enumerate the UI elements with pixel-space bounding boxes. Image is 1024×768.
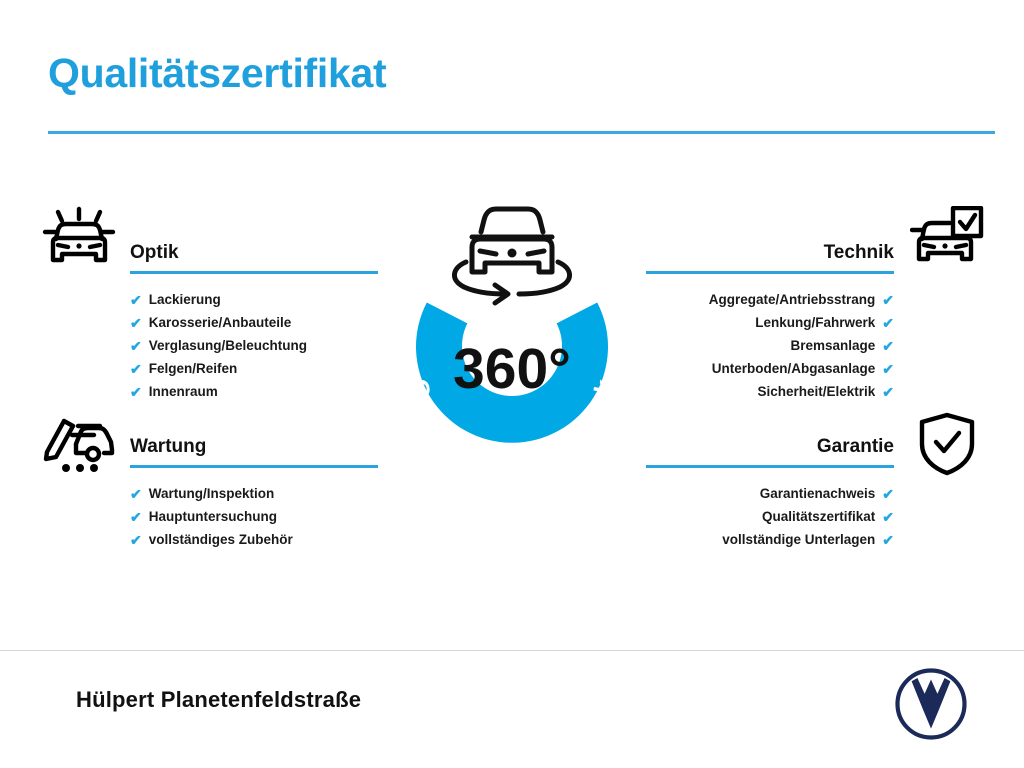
list-item-label: Innenraum (149, 380, 218, 403)
section-title-optik: Optik (130, 243, 378, 262)
section-wartung: Wartung ✔ Wartung/Inspektion ✔ Hauptunte… (130, 437, 378, 551)
car-front-rotation-icon (454, 209, 569, 303)
check-icon: ✔ (130, 316, 142, 330)
section-title-wartung: Wartung (130, 437, 378, 456)
list-item-label: Garantienachweis (760, 482, 876, 505)
section-divider-garantie (646, 465, 894, 468)
check-icon: ✔ (130, 385, 142, 399)
list-item-label: Hauptuntersuchung (149, 505, 277, 528)
gebrauchtwagen-check-badge: Gebrauchtwagen-Check 360° (372, 196, 652, 496)
check-icon: ✔ (130, 487, 142, 501)
list-item-label: Unterboden/Abgasanlage (712, 357, 876, 380)
check-icon: ✔ (130, 293, 142, 307)
check-icon: ✔ (130, 362, 142, 376)
check-icon: ✔ (882, 510, 894, 524)
list-item-label: Verglasung/Beleuchtung (149, 334, 307, 357)
footer-divider (0, 650, 1024, 651)
list-item: Lenkung/Fahrwerk ✔ (646, 311, 894, 334)
badge-center-text: 360° (453, 337, 571, 401)
section-divider-wartung (130, 465, 378, 468)
section-technik: Technik Aggregate/Antriebsstrang ✔ Lenku… (646, 243, 894, 403)
section-divider-technik (646, 271, 894, 274)
checklist-optik: ✔ Lackierung ✔ Karosserie/Anbauteile ✔ V… (130, 288, 378, 403)
list-item-label: Sicherheit/Elektrik (757, 380, 875, 403)
section-divider-optik (130, 271, 378, 274)
list-item: Garantienachweis ✔ (646, 482, 894, 505)
section-garantie: Garantie Garantienachweis ✔ Qualitätszer… (646, 437, 894, 551)
checklist-garantie: Garantienachweis ✔ Qualitätszertifikat ✔… (646, 482, 894, 551)
list-item: vollständige Unterlagen ✔ (646, 528, 894, 551)
section-optik: Optik ✔ Lackierung ✔ Karosserie/Anbautei… (130, 243, 378, 403)
check-icon: ✔ (882, 362, 894, 376)
check-icon: ✔ (882, 293, 894, 307)
list-item-label: Wartung/Inspektion (149, 482, 275, 505)
check-icon: ✔ (882, 316, 894, 330)
list-item: Aggregate/Antriebsstrang ✔ (646, 288, 894, 311)
list-item: ✔ Hauptuntersuchung (130, 505, 378, 528)
list-item-label: vollständige Unterlagen (722, 528, 875, 551)
list-item: Qualitätszertifikat ✔ (646, 505, 894, 528)
page-title: Qualitätszertifikat (48, 50, 386, 97)
check-icon: ✔ (130, 339, 142, 353)
check-icon: ✔ (130, 510, 142, 524)
list-item: ✔ Wartung/Inspektion (130, 482, 378, 505)
shield-check-icon (918, 412, 976, 481)
dealer-name: Hülpert Planetenfeldstraße (76, 687, 361, 713)
list-item: ✔ vollständiges Zubehör (130, 528, 378, 551)
list-item: ✔ Felgen/Reifen (130, 357, 378, 380)
list-item-label: vollständiges Zubehör (149, 528, 293, 551)
list-item-label: Lenkung/Fahrwerk (755, 311, 875, 334)
list-item: Bremsanlage ✔ (646, 334, 894, 357)
list-item-label: Lackierung (149, 288, 221, 311)
check-icon: ✔ (882, 533, 894, 547)
list-item-label: Karosserie/Anbauteile (149, 311, 292, 334)
section-title-garantie: Garantie (646, 437, 894, 456)
section-title-technik: Technik (646, 243, 894, 262)
title-divider (48, 131, 995, 134)
check-icon: ✔ (882, 487, 894, 501)
car-shine-icon (42, 206, 116, 277)
list-item: ✔ Karosserie/Anbauteile (130, 311, 378, 334)
car-checkbox-icon (910, 206, 984, 273)
list-item-label: Aggregate/Antriebsstrang (709, 288, 876, 311)
checklist-technik: Aggregate/Antriebsstrang ✔ Lenkung/Fahrw… (646, 288, 894, 403)
checklist-wartung: ✔ Wartung/Inspektion ✔ Hauptuntersuchung… (130, 482, 378, 551)
list-item-label: Qualitätszertifikat (762, 505, 875, 528)
list-item-label: Felgen/Reifen (149, 357, 238, 380)
list-item: ✔ Verglasung/Beleuchtung (130, 334, 378, 357)
list-item-label: Bremsanlage (790, 334, 875, 357)
pencil-car-service-icon (42, 412, 116, 479)
list-item: ✔ Lackierung (130, 288, 378, 311)
list-item: Unterboden/Abgasanlage ✔ (646, 357, 894, 380)
list-item: Sicherheit/Elektrik ✔ (646, 380, 894, 403)
volkswagen-logo (894, 667, 968, 746)
check-icon: ✔ (882, 339, 894, 353)
check-icon: ✔ (882, 385, 894, 399)
list-item: ✔ Innenraum (130, 380, 378, 403)
check-icon: ✔ (130, 533, 142, 547)
